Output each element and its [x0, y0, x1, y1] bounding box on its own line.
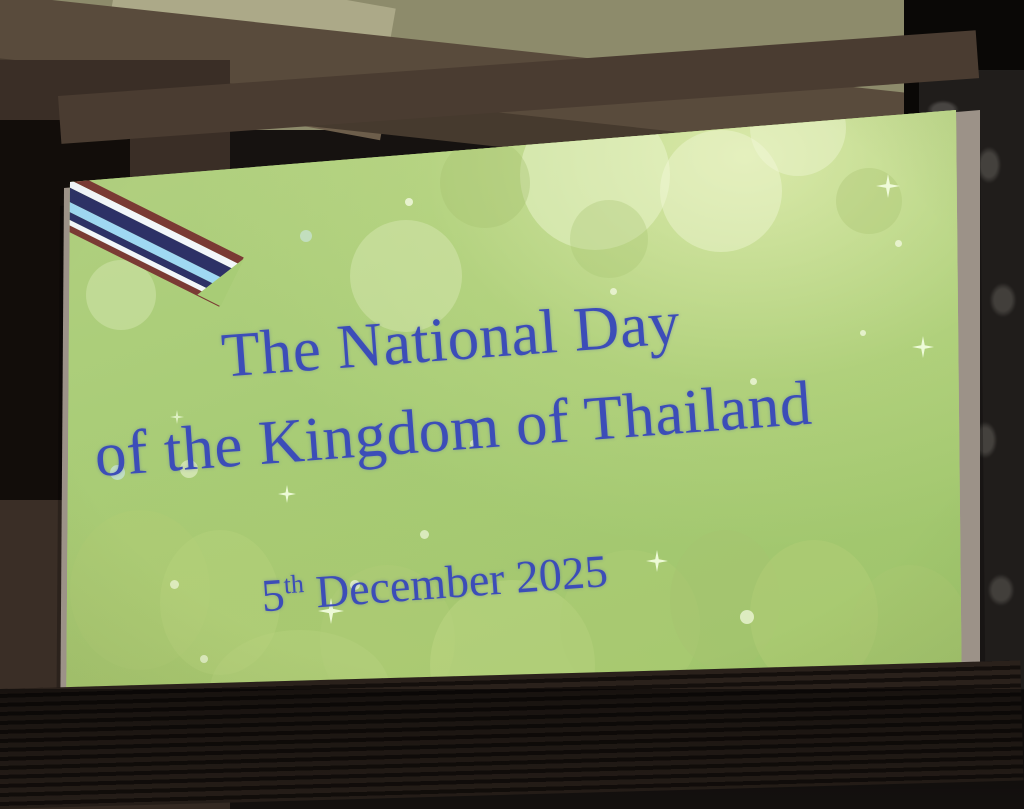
- slide-text-block: The National Day of the Kingdom of Thail…: [50, 110, 990, 750]
- slide-date: 5th December 2025: [260, 544, 610, 622]
- projected-slide: The National Day of the Kingdom of Thail…: [50, 110, 990, 750]
- wall-slats-shadow: [0, 689, 1024, 809]
- slide-date-ordinal: th: [283, 569, 305, 599]
- conference-room-scene: The National Day of the Kingdom of Thail…: [0, 0, 1024, 809]
- slide-title-line-1: The National Day: [219, 286, 682, 392]
- slide-date-rest: December 2025: [303, 545, 610, 618]
- slide-title-line-2: of the Kingdom of Thailand: [92, 367, 814, 492]
